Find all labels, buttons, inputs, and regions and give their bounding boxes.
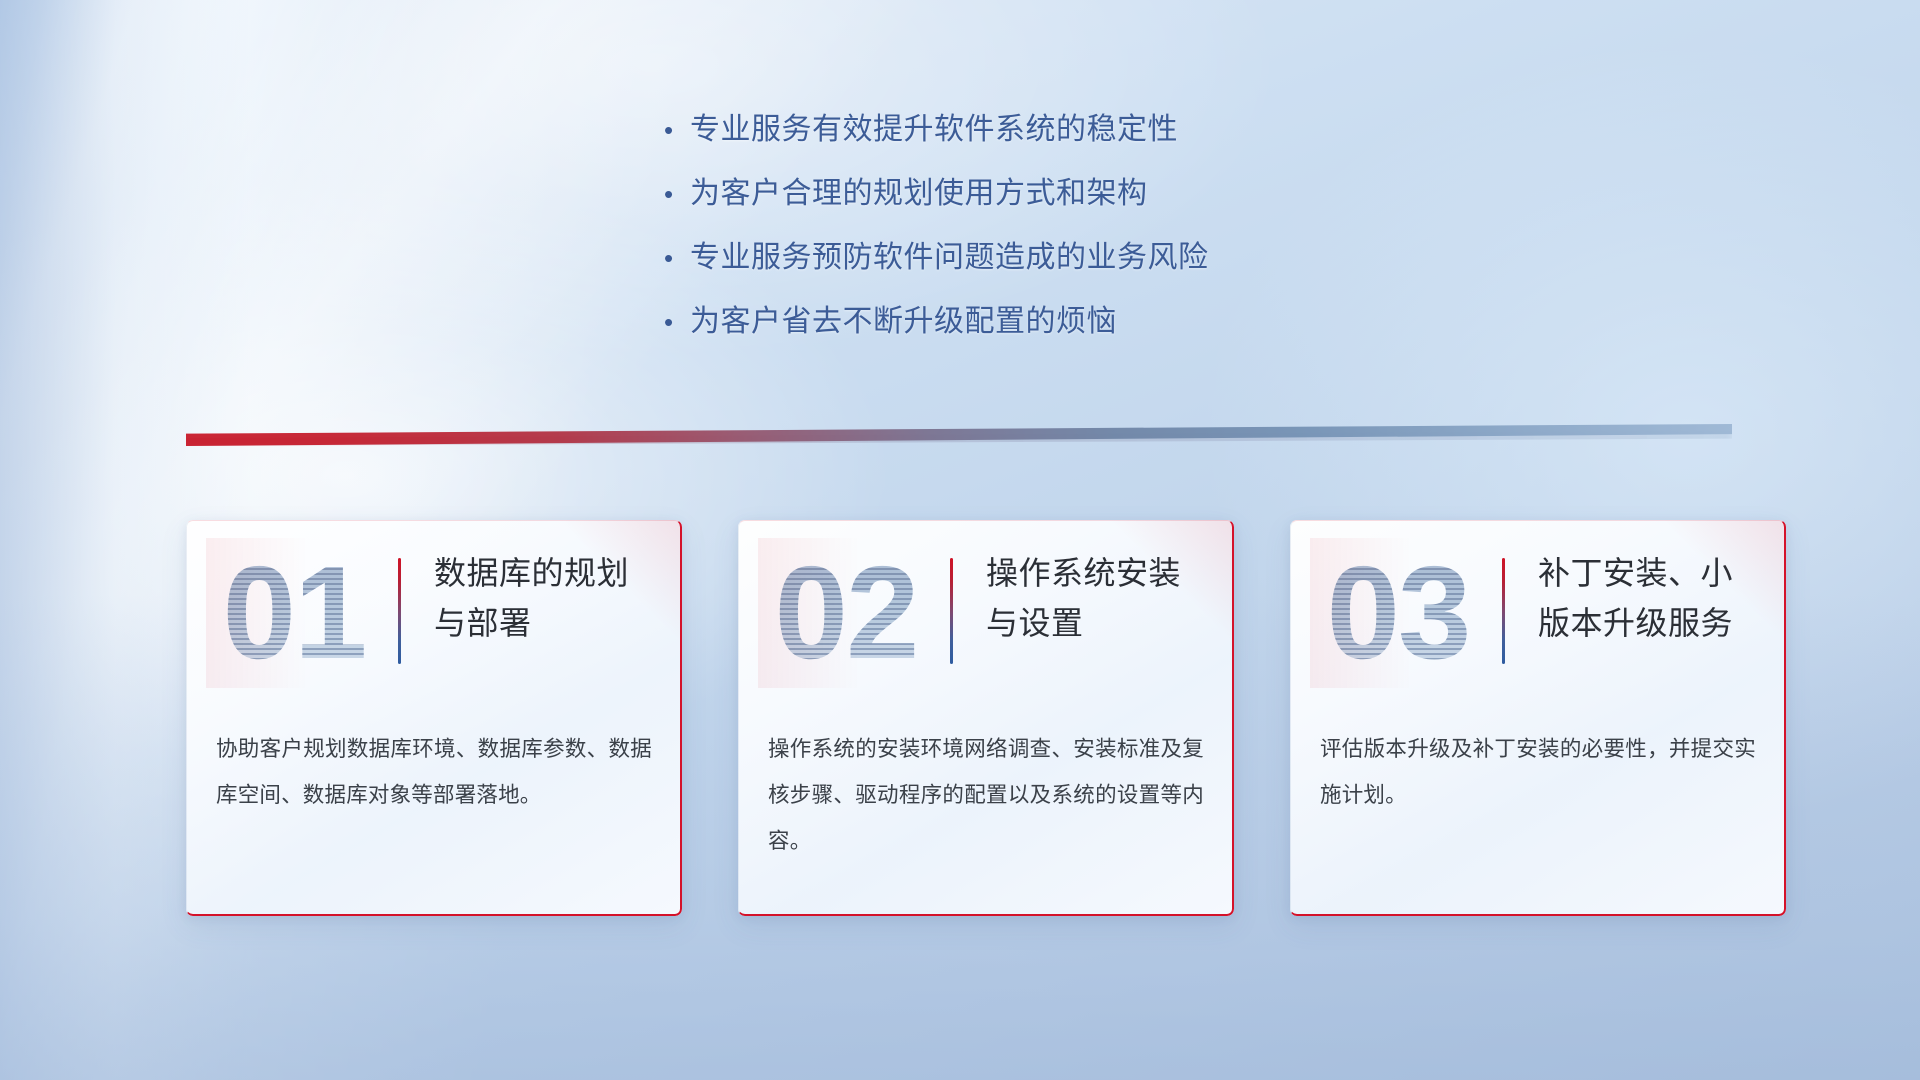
bullet-dot-icon: • [660, 174, 690, 214]
card-title-divider [1502, 558, 1505, 664]
bullet-text: 为客户省去不断升级配置的烦恼 [690, 302, 1117, 342]
bullet-dot-icon: • [660, 110, 690, 150]
card-title-line: 与设置 [986, 598, 1216, 648]
bullet-dot-icon: • [660, 302, 690, 342]
card-number-watermark: 02 [758, 538, 934, 688]
card-title: 补丁安装、小 版本升级服务 [1538, 548, 1768, 648]
card-body-text: 操作系统的安装环境网络调查、安装标准及复核步骤、驱动程序的配置以及系统的设置等内… [768, 726, 1204, 864]
service-card-header: 03 补丁安装、小 版本升级服务 [1290, 520, 1786, 706]
service-card-list: 01 数据库的规划 与部署 协助客户规划数据库环境、数据库参数、数据库空间、数据… [186, 520, 1786, 916]
slide-canvas: • 专业服务有效提升软件系统的稳定性 • 为客户合理的规划使用方式和架构 • 专… [0, 0, 1920, 1080]
list-item: • 为客户合理的规划使用方式和架构 [660, 174, 1420, 238]
card-title-divider [950, 558, 953, 664]
card-title: 数据库的规划 与部署 [434, 548, 664, 648]
card-title-line: 补丁安装、小 [1538, 548, 1768, 598]
service-card[interactable]: 02 操作系统安装 与设置 操作系统的安装环境网络调查、安装标准及复核步骤、驱动… [738, 520, 1234, 916]
card-title-line: 版本升级服务 [1538, 598, 1768, 648]
card-title-line: 操作系统安装 [986, 548, 1216, 598]
bullet-text: 专业服务有效提升软件系统的稳定性 [690, 110, 1178, 150]
service-card-header: 02 操作系统安装 与设置 [738, 520, 1234, 706]
card-number-watermark: 03 [1310, 538, 1486, 688]
section-divider-wedge [186, 424, 1732, 446]
card-title: 操作系统安装 与设置 [986, 548, 1216, 648]
card-number-watermark: 01 [206, 538, 382, 688]
bullet-text: 为客户合理的规划使用方式和架构 [690, 174, 1148, 214]
card-body-text: 评估版本升级及补丁安装的必要性，并提交实施计划。 [1320, 726, 1756, 818]
service-card[interactable]: 03 补丁安装、小 版本升级服务 评估版本升级及补丁安装的必要性，并提交实施计划… [1290, 520, 1786, 916]
list-item: • 专业服务预防软件问题造成的业务风险 [660, 238, 1420, 302]
service-card-header: 01 数据库的规划 与部署 [186, 520, 682, 706]
section-divider [186, 424, 1732, 446]
card-body-text: 协助客户规划数据库环境、数据库参数、数据库空间、数据库对象等部署落地。 [216, 726, 652, 818]
benefits-bullet-list: • 专业服务有效提升软件系统的稳定性 • 为客户合理的规划使用方式和架构 • 专… [660, 110, 1420, 366]
card-title-line: 数据库的规划 [434, 548, 664, 598]
service-card[interactable]: 01 数据库的规划 与部署 协助客户规划数据库环境、数据库参数、数据库空间、数据… [186, 520, 682, 916]
list-item: • 专业服务有效提升软件系统的稳定性 [660, 110, 1420, 174]
bullet-dot-icon: • [660, 238, 690, 278]
card-title-divider [398, 558, 401, 664]
bullet-text: 专业服务预防软件问题造成的业务风险 [690, 238, 1209, 278]
card-title-line: 与部署 [434, 598, 664, 648]
list-item: • 为客户省去不断升级配置的烦恼 [660, 302, 1420, 366]
